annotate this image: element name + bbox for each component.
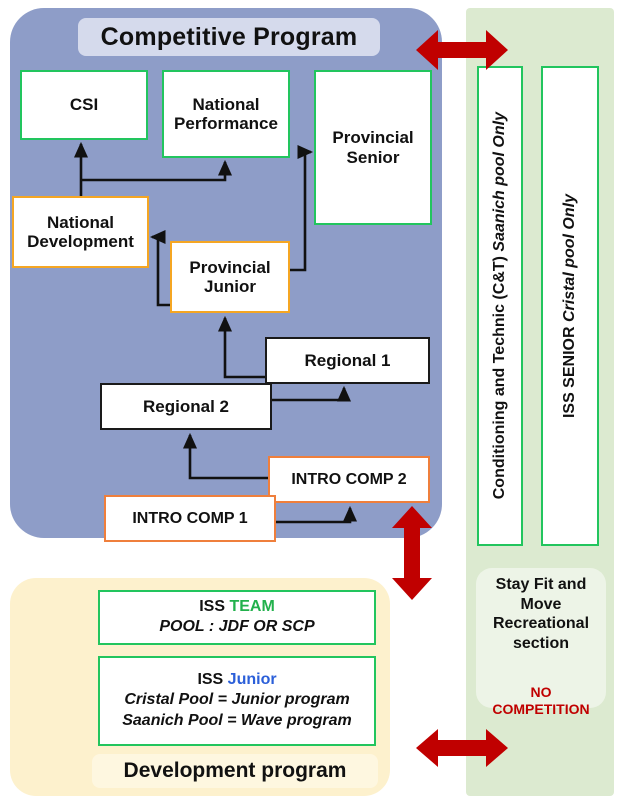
box-iss-senior-label: ISS SENIOR Cristal pool Only — [562, 194, 578, 418]
heading-prefix: ISS — [199, 598, 229, 615]
box-csi-label: CSI — [70, 95, 98, 114]
development-program-title: Development program — [92, 754, 378, 788]
recreational-title: Stay Fit and Move Recreational section — [480, 575, 602, 653]
label-italic: Cristal pool Only — [561, 194, 578, 322]
box-national-performance-label: National Performance — [174, 95, 278, 133]
heading-accent: TEAM — [229, 598, 274, 615]
no-competition-badge: NO COMPETITION — [480, 684, 602, 717]
box-regional-1-label: Regional 1 — [305, 351, 391, 370]
box-csi[interactable]: CSI — [20, 70, 148, 140]
box-regional-2-label: Regional 2 — [143, 397, 229, 416]
line-1: National — [192, 95, 259, 114]
heading-prefix: ISS — [197, 671, 227, 688]
box-iss-junior-heading: ISS Junior — [197, 670, 276, 690]
box-national-development-label: National Development — [27, 213, 134, 251]
box-iss-senior[interactable]: ISS SENIOR Cristal pool Only — [541, 66, 599, 546]
rec-line-4: section — [513, 635, 569, 652]
line-1: Provincial — [189, 258, 270, 277]
no-comp-line-1: NO — [531, 684, 552, 700]
arrow-competitive-to-right-icon — [414, 22, 510, 78]
no-comp-line-2: COMPETITION — [492, 701, 589, 717]
rec-line-2: Move — [521, 596, 562, 613]
box-iss-junior-line-2: Saanich Pool = Wave program — [122, 711, 352, 732]
box-provincial-senior[interactable]: Provincial Senior — [314, 70, 432, 225]
box-provincial-senior-label: Provincial Senior — [332, 128, 413, 166]
box-national-performance[interactable]: National Performance — [162, 70, 290, 158]
box-provincial-junior[interactable]: Provincial Junior — [170, 241, 290, 313]
line-1: Provincial — [332, 128, 413, 147]
box-intro-comp-2-label: INTRO COMP 2 — [291, 471, 406, 489]
line-2: Senior — [347, 148, 400, 167]
box-conditioning-and-technic-label: Conditioning and Technic (C&T) Saanich p… — [492, 112, 508, 499]
box-regional-1[interactable]: Regional 1 — [265, 337, 430, 384]
box-iss-junior-line-1: Cristal Pool = Junior program — [124, 690, 349, 711]
diagram-canvas: Competitive Program CSI National Perform… — [0, 0, 620, 804]
line-2: Performance — [174, 114, 278, 133]
label-bold: Conditioning and Technic (C&T) — [491, 252, 508, 500]
box-iss-junior[interactable]: ISS Junior Cristal Pool = Junior program… — [98, 656, 376, 746]
heading-accent: Junior — [228, 671, 277, 688]
box-provincial-junior-label: Provincial Junior — [189, 258, 270, 296]
line-2: Development — [27, 232, 134, 251]
box-intro-comp-1[interactable]: INTRO COMP 1 — [104, 495, 276, 542]
rec-line-3: Recreational — [493, 615, 589, 632]
box-iss-team[interactable]: ISS TEAM POOL : JDF OR SCP — [98, 590, 376, 645]
rec-line-1: Stay Fit and — [496, 576, 587, 593]
line-2: Junior — [204, 277, 256, 296]
label-bold: ISS SENIOR — [561, 322, 578, 418]
line-1: National — [47, 213, 114, 232]
label-italic: Saanich pool Only — [491, 112, 508, 252]
box-intro-comp-1-label: INTRO COMP 1 — [132, 510, 247, 528]
box-national-development[interactable]: National Development — [12, 196, 149, 268]
box-iss-team-heading: ISS TEAM — [199, 597, 275, 617]
box-intro-comp-2[interactable]: INTRO COMP 2 — [268, 456, 430, 503]
competitive-program-title: Competitive Program — [78, 18, 380, 56]
box-regional-2[interactable]: Regional 2 — [100, 383, 272, 430]
arrow-competitive-to-development-icon — [386, 504, 438, 602]
box-conditioning-and-technic[interactable]: Conditioning and Technic (C&T) Saanich p… — [477, 66, 523, 546]
arrow-development-to-recreational-icon — [414, 722, 510, 774]
box-iss-team-line-1: POOL : JDF OR SCP — [159, 617, 314, 638]
